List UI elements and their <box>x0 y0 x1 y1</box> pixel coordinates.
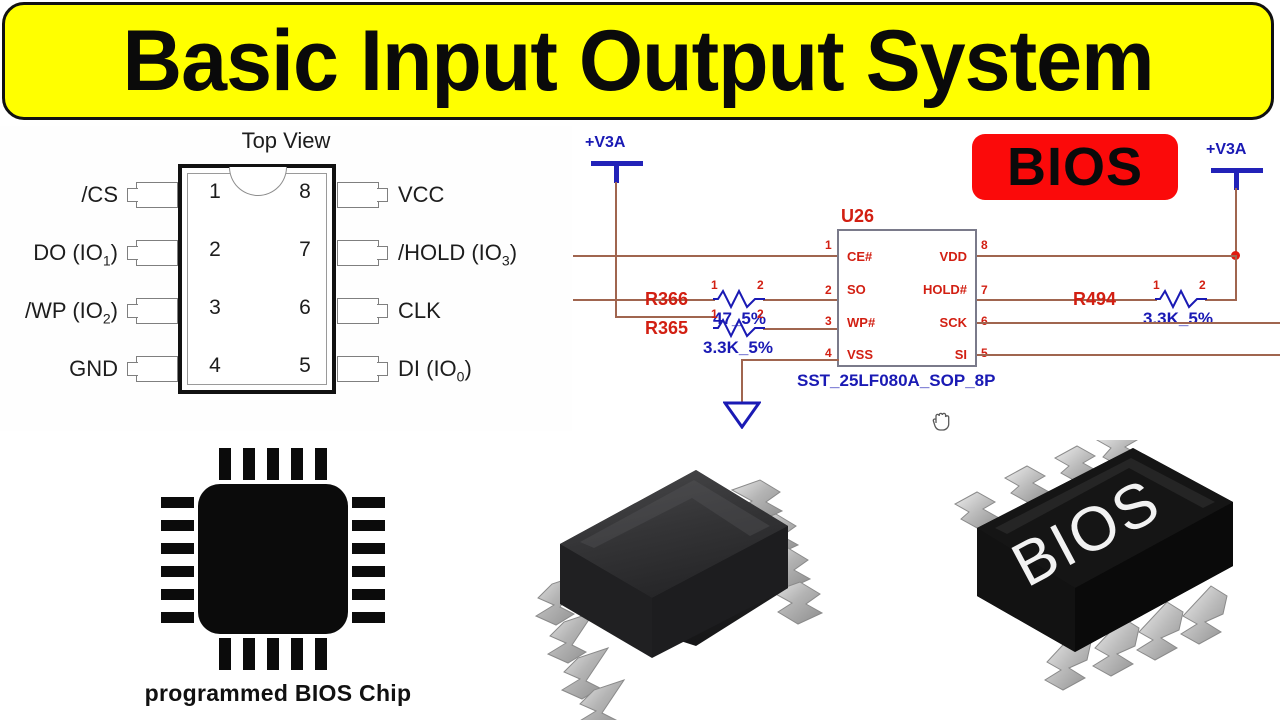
package-lead-4 <box>136 356 178 382</box>
resistor-r494-pin1: 1 <box>1153 278 1160 292</box>
pin-number-2: 2 <box>200 238 230 262</box>
bios-badge-label: BIOS <box>1007 140 1143 194</box>
wire-net-ce <box>573 255 837 257</box>
qfn-pin-left-4 <box>161 566 194 577</box>
package-lead-3 <box>136 298 178 324</box>
qfn-pin-bottom-3 <box>267 638 279 670</box>
soic8-chip-illustration <box>520 448 860 720</box>
qfn-pin-right-4 <box>352 566 385 577</box>
pin-number-7: 7 <box>290 238 320 262</box>
resistor-r494-refdes: R494 <box>1073 289 1116 310</box>
pin-label-di: DI (IO0) <box>398 356 472 384</box>
ic-pin-number-5: 5 <box>981 346 988 360</box>
qfn-pin-right-6 <box>352 612 385 623</box>
qfn-pin-top-4 <box>291 448 303 480</box>
wire-vss-to-gnd-h <box>741 359 839 361</box>
qfn-pin-right-1 <box>352 497 385 508</box>
resistor-r365-refdes: R365 <box>645 318 688 339</box>
package-lead-1 <box>136 182 178 208</box>
pin-number-6: 6 <box>290 296 320 320</box>
qfn-pin-left-5 <box>161 589 194 600</box>
ic-pin-label-sck: SCK <box>940 315 967 330</box>
ic-pin-number-2: 2 <box>825 283 832 297</box>
qfn-pin-left-3 <box>161 543 194 554</box>
wire-net-sck <box>977 322 1280 324</box>
grab-hand-cursor-icon <box>931 408 953 432</box>
wire-v3a-left-vertical <box>615 182 617 317</box>
ic-pin-number-3: 3 <box>825 314 832 328</box>
resistor-r365-pin2: 2 <box>757 307 764 321</box>
qfn-pin-right-3 <box>352 543 385 554</box>
bios-marked-chip-photo: BIOS <box>915 440 1280 720</box>
qfn-pin-bottom-1 <box>219 638 231 670</box>
pinout-diagram: Top View 1 2 3 4 8 7 6 5 /CS DO (IO1) /W… <box>0 126 572 431</box>
qfn-pin-left-2 <box>161 520 194 531</box>
qfn-pin-right-2 <box>352 520 385 531</box>
wire-net-si <box>977 354 1280 356</box>
qfn-pin-right-5 <box>352 589 385 600</box>
wire-net-vdd <box>977 255 1237 257</box>
qfn-chip-body <box>198 484 348 634</box>
qfn-pin-left-1 <box>161 497 194 508</box>
ic-pin-label-ce: CE# <box>847 249 872 264</box>
page-root: Basic Input Output System Top View 1 2 3… <box>0 0 1280 720</box>
qfn-pin-bottom-2 <box>243 638 255 670</box>
ic-pin-label-si: SI <box>955 347 967 362</box>
pin-label-hold: /HOLD (IO3) <box>398 240 517 268</box>
pin-label-wp: /WP (IO2) <box>0 298 118 326</box>
pin-number-5: 5 <box>290 354 320 378</box>
net-label-v3a-right: +V3A <box>1206 141 1246 159</box>
power-symbol-left-stem-icon <box>614 161 619 183</box>
package-lead-5 <box>337 356 379 382</box>
ic-symbol-u26[interactable]: CE# SO WP# VSS VDD HOLD# SCK SI <box>837 229 977 367</box>
ic-pin-label-wp: WP# <box>847 315 875 330</box>
pin-number-1: 1 <box>200 180 230 204</box>
ic-pin-number-6: 6 <box>981 314 988 328</box>
programmed-bios-chip-caption: programmed BIOS Chip <box>108 680 448 707</box>
resistor-r494-value: 3.3K_5% <box>1143 309 1213 329</box>
pin-label-cs-text: /CS <box>81 182 118 207</box>
programmed-bios-chip-icon <box>128 436 428 686</box>
ic-pin-number-4: 4 <box>825 346 832 360</box>
pin-label-do-text: DO (IO1) <box>33 240 118 265</box>
ic-part-name: SST_25LF080A_SOP_8P <box>797 371 995 391</box>
pinout-title: Top View <box>0 128 572 154</box>
resistor-r366-pin2: 2 <box>757 278 764 292</box>
wire-v3a-right-to-r494 <box>1235 256 1237 300</box>
qfn-pin-bottom-5 <box>315 638 327 670</box>
soic8-chip-photo <box>520 448 860 720</box>
pin-label-gnd: GND <box>0 356 118 382</box>
pin-label-vcc-text: VCC <box>398 182 444 207</box>
package-lead-8 <box>337 182 379 208</box>
schematic-diagram: BIOS +V3A +V3A 1 2 R366 47_5% <box>573 126 1280 431</box>
pin-number-3: 3 <box>200 296 230 320</box>
pin-label-wp-text: /WP (IO2) <box>25 298 118 323</box>
ic-pin-number-8: 8 <box>981 238 988 252</box>
resistor-r366-refdes: R366 <box>645 289 688 310</box>
pin-label-hold-text: /HOLD (IO3) <box>398 240 517 265</box>
page-title: Basic Input Output System <box>122 18 1153 104</box>
resistor-r494-pin2: 2 <box>1199 278 1206 292</box>
qfn-pin-top-2 <box>243 448 255 480</box>
pin-number-8: 8 <box>290 180 320 204</box>
net-label-v3a-left: +V3A <box>585 134 625 152</box>
qfn-pin-top-1 <box>219 448 231 480</box>
pin-number-4: 4 <box>200 354 230 378</box>
package-lead-7 <box>337 240 379 266</box>
pin-label-di-text: DI (IO0) <box>398 356 472 381</box>
wire-net-hold-left <box>977 299 1157 301</box>
title-banner: Basic Input Output System <box>2 2 1274 120</box>
pin-label-do: DO (IO1) <box>0 240 118 268</box>
pin-label-cs: /CS <box>0 182 118 208</box>
power-symbol-right-stem-icon <box>1234 168 1239 190</box>
ic-pin-label-vss: VSS <box>847 347 873 362</box>
resistor-r365-value: 3.3K_5% <box>703 338 773 358</box>
ic-pin-label-so: SO <box>847 282 866 297</box>
wire-vss-to-gnd-v <box>741 359 743 404</box>
qfn-pin-top-5 <box>315 448 327 480</box>
pin-label-clk: CLK <box>398 298 441 324</box>
wire-net-hold-right <box>1205 299 1237 301</box>
ic-pin-number-7: 7 <box>981 283 988 297</box>
ic-pin-label-hold: HOLD# <box>923 282 967 297</box>
ground-symbol-icon <box>723 399 761 429</box>
wire-v3a-right-vertical <box>1235 188 1237 260</box>
resistor-r366-pin1: 1 <box>711 278 718 292</box>
ic-pin-label-vdd: VDD <box>940 249 967 264</box>
pin-label-gnd-text: GND <box>69 356 118 381</box>
qfn-pin-bottom-4 <box>291 638 303 670</box>
qfn-pin-top-3 <box>267 448 279 480</box>
wire-net-so-right <box>763 299 837 301</box>
bios-badge: BIOS <box>972 134 1178 200</box>
pin-label-vcc: VCC <box>398 182 444 208</box>
wire-net-wp-right <box>763 328 837 330</box>
ic-pin-number-1: 1 <box>825 238 832 252</box>
pin-label-clk-text: CLK <box>398 298 441 323</box>
wire-net-so-left <box>573 299 715 301</box>
package-lead-2 <box>136 240 178 266</box>
ic-refdes-u26: U26 <box>841 206 874 227</box>
package-lead-6 <box>337 298 379 324</box>
bios-chip-illustration: BIOS <box>915 440 1280 720</box>
qfn-pin-left-6 <box>161 612 194 623</box>
resistor-r365-pin1: 1 <box>711 307 718 321</box>
